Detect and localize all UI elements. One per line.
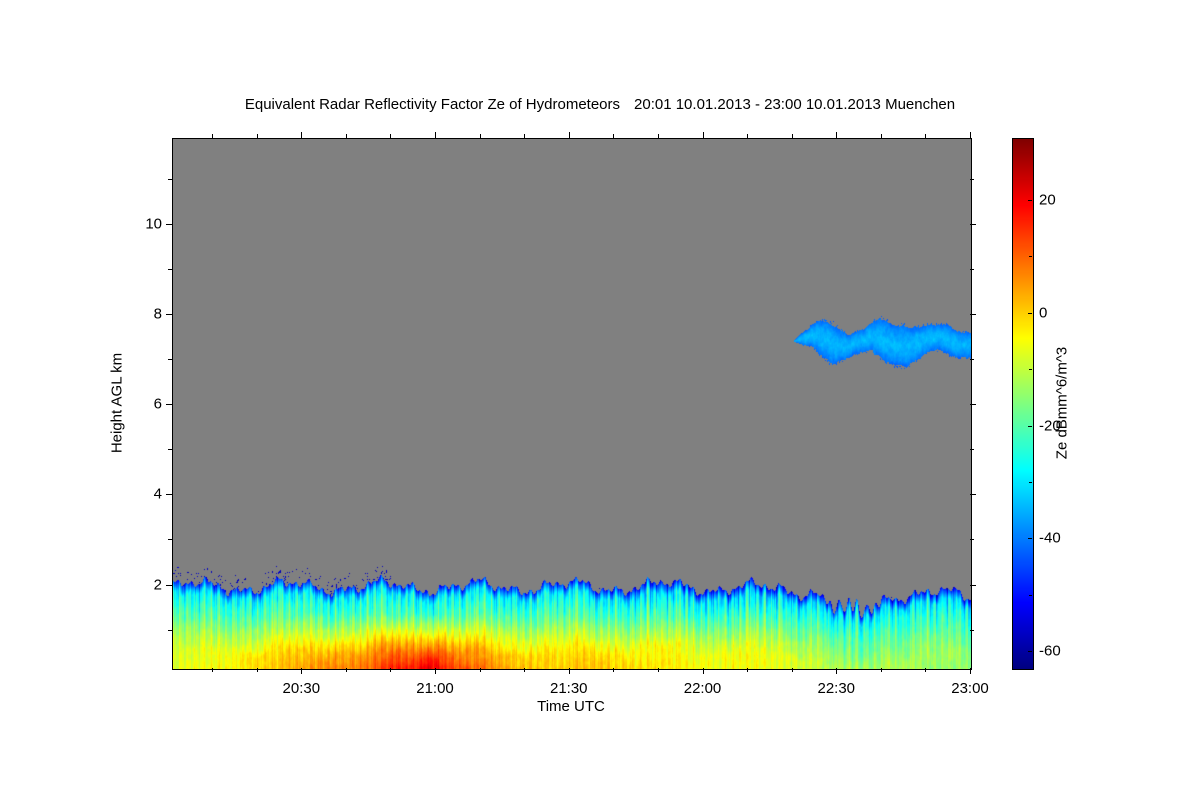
x-tick-minor-top <box>613 134 614 138</box>
x-tick-minor-top <box>881 134 882 138</box>
colorbar-tick <box>1028 426 1032 427</box>
x-tick-major-top <box>301 132 302 138</box>
y-tick-minor <box>168 269 172 270</box>
x-tick-minor-top <box>346 134 347 138</box>
x-tick-major <box>970 668 971 674</box>
x-tick-minor <box>658 668 659 672</box>
x-tick-major-top <box>703 132 704 138</box>
x-tick-label: 21:30 <box>550 680 588 697</box>
y-tick-minor <box>168 630 172 631</box>
y-tick-major-right <box>970 404 976 405</box>
y-tick-label: 4 <box>138 486 162 503</box>
colorbar-tick-label: -40 <box>1039 530 1061 547</box>
y-tick-major-right <box>970 585 976 586</box>
colorbar-tick-label: 20 <box>1039 192 1056 209</box>
colorbar-tick-minor <box>1029 369 1032 370</box>
x-tick-major <box>435 668 436 674</box>
y-tick-minor-right <box>970 269 974 270</box>
chart-title-main: Equivalent Radar Reflectivity Factor Ze … <box>245 96 620 113</box>
x-axis-title: Time UTC <box>172 698 970 715</box>
y-tick-minor <box>168 359 172 360</box>
y-tick-minor-right <box>970 179 974 180</box>
colorbar <box>1012 138 1034 670</box>
y-tick-minor-right <box>970 539 974 540</box>
x-tick-label: 22:00 <box>684 680 722 697</box>
colorbar-tick-minor <box>1029 595 1032 596</box>
x-tick-minor <box>747 668 748 672</box>
y-tick-major <box>166 585 172 586</box>
x-tick-label: 20:30 <box>283 680 321 697</box>
x-tick-major-top <box>970 132 971 138</box>
y-tick-minor-right <box>970 630 974 631</box>
colorbar-tick-label: 0 <box>1039 304 1047 321</box>
y-tick-major <box>166 314 172 315</box>
x-tick-major <box>569 668 570 674</box>
x-tick-major-top <box>569 132 570 138</box>
chart-title-timerange: 20:01 10.01.2013 - 23:00 10.01.2013 Muen… <box>634 96 955 113</box>
x-tick-minor-top <box>390 134 391 138</box>
colorbar-tick <box>1028 200 1032 201</box>
x-tick-major <box>836 668 837 674</box>
chart-title: Equivalent Radar Reflectivity Factor Ze … <box>0 96 1200 113</box>
x-tick-minor <box>480 668 481 672</box>
x-tick-minor <box>613 668 614 672</box>
y-tick-major <box>166 224 172 225</box>
x-tick-minor <box>212 668 213 672</box>
x-tick-minor <box>257 668 258 672</box>
x-tick-minor-top <box>925 134 926 138</box>
x-tick-minor <box>524 668 525 672</box>
y-tick-major-right <box>970 314 976 315</box>
x-tick-minor-top <box>257 134 258 138</box>
x-tick-minor-top <box>212 134 213 138</box>
y-tick-label: 8 <box>138 305 162 322</box>
colorbar-tick-label: -60 <box>1039 643 1061 660</box>
x-tick-minor-top <box>747 134 748 138</box>
y-tick-major-right <box>970 224 976 225</box>
y-tick-minor-right <box>970 449 974 450</box>
x-tick-label: 22:30 <box>817 680 855 697</box>
y-tick-minor <box>168 539 172 540</box>
radar-figure: Equivalent Radar Reflectivity Factor Ze … <box>0 0 1200 800</box>
reflectivity-heatmap <box>172 138 972 670</box>
x-tick-minor-top <box>480 134 481 138</box>
colorbar-tick <box>1028 538 1032 539</box>
colorbar-tick-minor <box>1029 256 1032 257</box>
x-tick-minor <box>346 668 347 672</box>
y-tick-major <box>166 494 172 495</box>
colorbar-tick <box>1028 313 1032 314</box>
x-tick-major-top <box>435 132 436 138</box>
x-tick-minor <box>881 668 882 672</box>
x-tick-minor-top <box>658 134 659 138</box>
x-tick-label: 21:00 <box>416 680 454 697</box>
y-tick-label: 6 <box>138 396 162 413</box>
x-tick-minor <box>390 668 391 672</box>
y-tick-minor <box>168 449 172 450</box>
y-tick-minor-right <box>970 359 974 360</box>
y-tick-major <box>166 404 172 405</box>
x-tick-minor-top <box>524 134 525 138</box>
y-tick-label: 10 <box>138 215 162 232</box>
x-tick-major-top <box>836 132 837 138</box>
colorbar-tick-minor <box>1029 482 1032 483</box>
x-tick-label: 23:00 <box>951 680 989 697</box>
colorbar-title: Ze dBmm^6/m^3 <box>1054 347 1071 459</box>
heatmap-canvas <box>173 139 971 669</box>
y-axis-title: Height AGL km <box>109 353 126 453</box>
x-tick-minor-top <box>792 134 793 138</box>
x-tick-minor <box>792 668 793 672</box>
x-tick-major <box>703 668 704 674</box>
y-tick-label: 2 <box>138 576 162 593</box>
x-tick-minor <box>925 668 926 672</box>
colorbar-canvas <box>1013 139 1033 669</box>
y-tick-minor <box>168 179 172 180</box>
y-tick-major-right <box>970 494 976 495</box>
colorbar-tick <box>1028 651 1032 652</box>
x-tick-major <box>301 668 302 674</box>
